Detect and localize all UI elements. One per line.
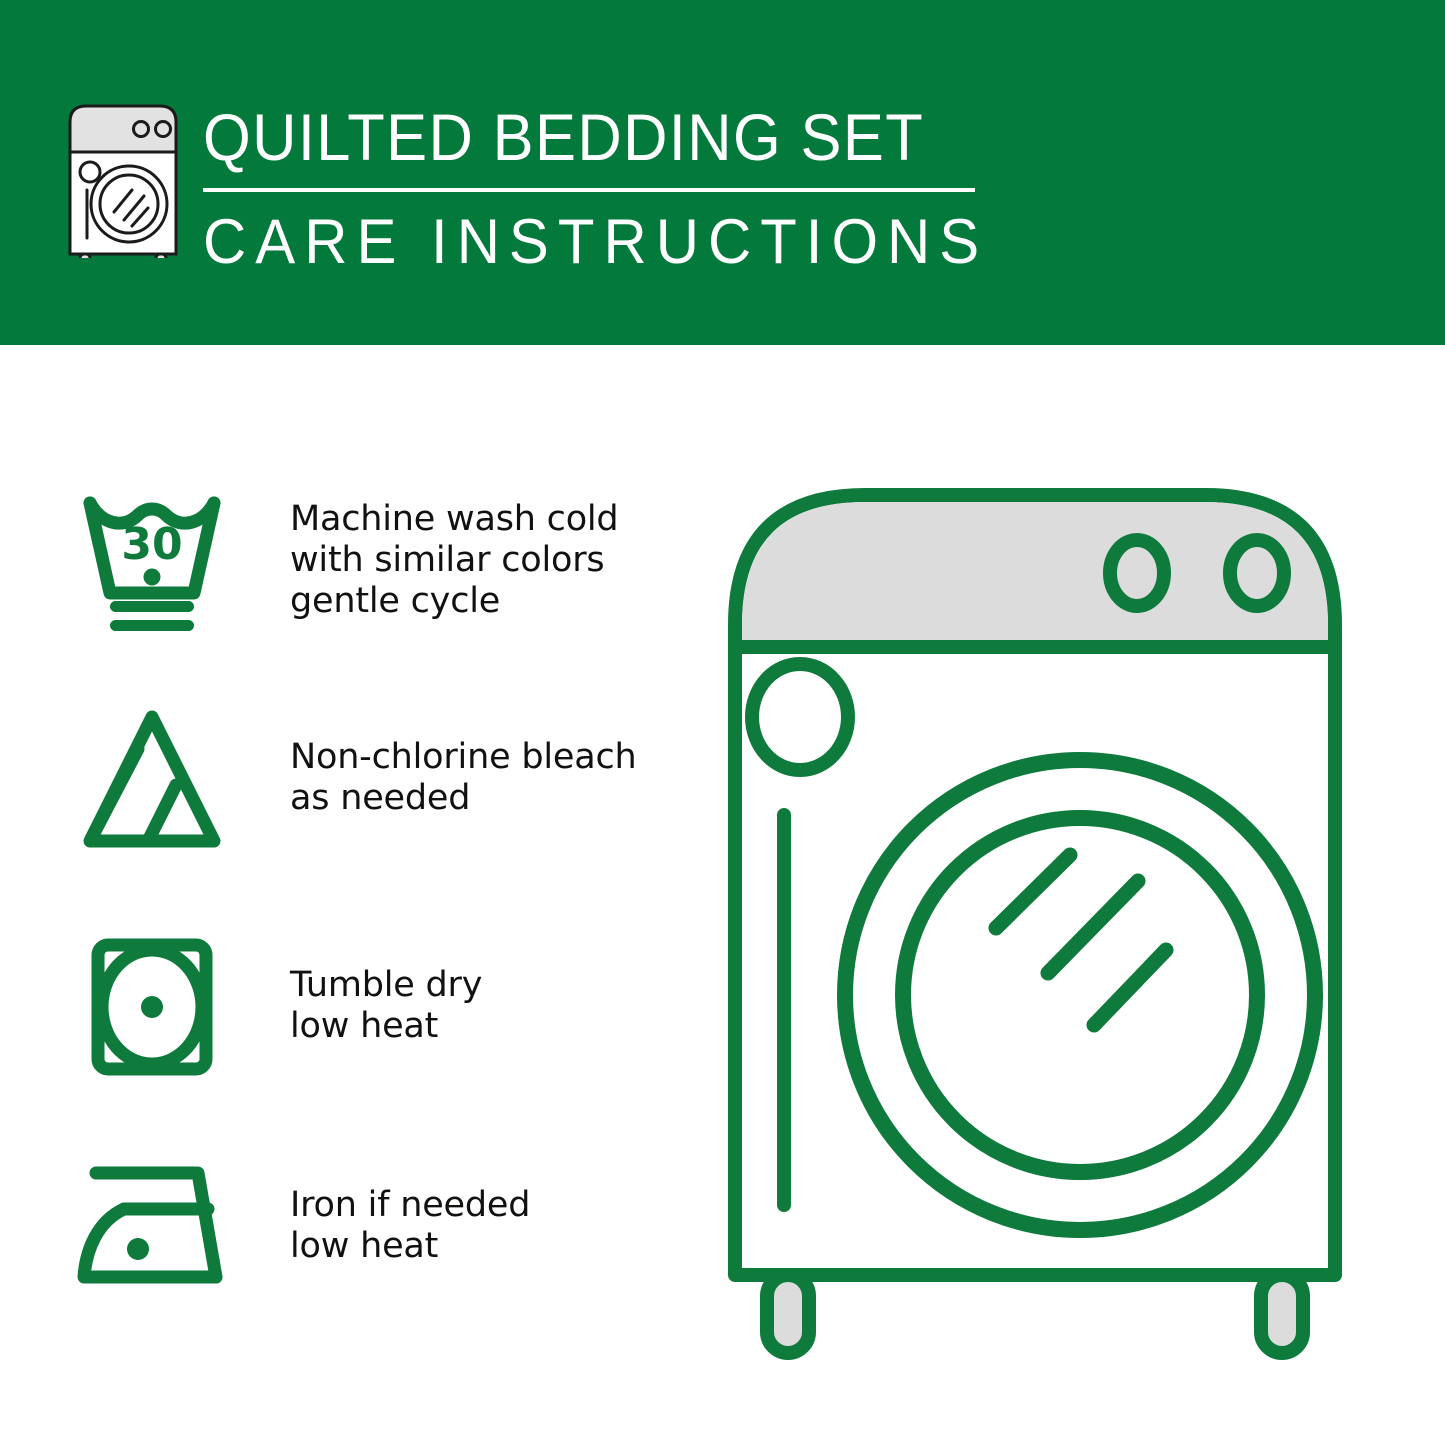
wash-tub-30-gentle-icon: 30 xyxy=(72,485,232,635)
list-item-label: Iron if needed low heat xyxy=(290,1185,530,1267)
title-divider xyxy=(203,188,975,192)
leg-left xyxy=(767,1275,809,1353)
list-item-label: Non-chlorine bleach as needed xyxy=(290,737,636,819)
washer-control-panel xyxy=(742,502,1328,647)
list-item-label: Tumble dry low heat xyxy=(290,965,482,1047)
non-chlorine-bleach-triangle-icon xyxy=(72,705,232,855)
care-instructions-page: QUILTED BEDDING SET CARE INSTRUCTIONS xyxy=(0,0,1445,1445)
tumble-dry-low-icon xyxy=(72,933,232,1083)
header-banner: QUILTED BEDDING SET CARE INSTRUCTIONS xyxy=(0,0,1445,345)
washing-machine-illustration xyxy=(700,455,1400,1365)
header-title-block: QUILTED BEDDING SET CARE INSTRUCTIONS xyxy=(203,98,1003,278)
wash-temperature-value: 30 xyxy=(121,519,182,570)
list-item-label: Machine wash cold with similar colors ge… xyxy=(290,499,618,622)
leg-right xyxy=(1261,1275,1303,1353)
washing-machine-icon xyxy=(62,100,192,258)
page-title: QUILTED BEDDING SET xyxy=(203,98,947,176)
iron-low-heat-icon xyxy=(72,1151,232,1301)
page-subtitle: CARE INSTRUCTIONS xyxy=(203,206,963,278)
